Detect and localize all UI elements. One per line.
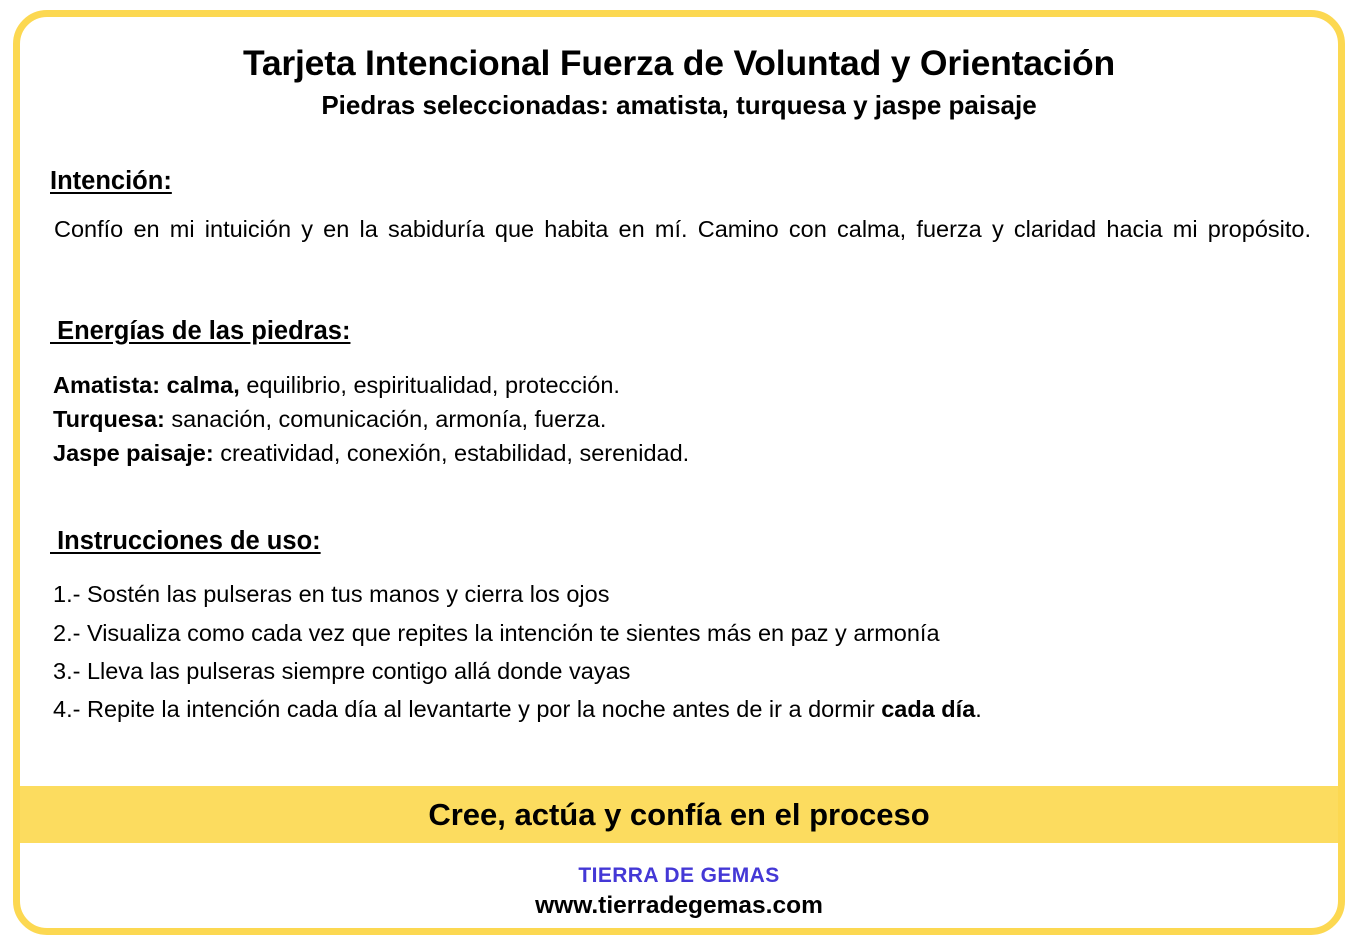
card-body: Intención: Confío en mi intuición y en l… — [20, 167, 1338, 728]
stone-name: Turquesa: — [53, 406, 165, 432]
step-number: 1.- — [53, 581, 80, 607]
step-number: 4.- — [53, 696, 80, 722]
list-item: 4.- Repite la intención cada día al leva… — [53, 690, 1316, 728]
page-title: Tarjeta Intencional Fuerza de Voluntad y… — [20, 43, 1338, 85]
intention-card: Tarjeta Intencional Fuerza de Voluntad y… — [13, 10, 1345, 935]
list-item: Jaspe paisaje: creatividad, conexión, es… — [53, 436, 1316, 470]
card-header: Tarjeta Intencional Fuerza de Voluntad y… — [20, 17, 1338, 121]
list-item: Amatista: calma, equilibrio, espirituali… — [53, 368, 1316, 402]
stone-qualities: creatividad, conexión, estabilidad, sere… — [214, 440, 690, 466]
step-number: 2.- — [53, 620, 80, 646]
list-item: 1.- Sostén las pulseras en tus manos y c… — [53, 575, 1316, 613]
step-text: Visualiza como cada vez que repites la i… — [80, 620, 939, 646]
section-heading-instrucciones: Instrucciones de uso: — [50, 527, 321, 556]
website-url: www.tierradegemas.com — [20, 893, 1338, 920]
card-footer: TIERRA DE GEMAS www.tierradegemas.com — [20, 851, 1338, 920]
step-text: Lleva las pulseras siempre contigo allá … — [80, 658, 630, 684]
list-item: 3.- Lleva las pulseras siempre contigo a… — [53, 652, 1316, 690]
stone-emphasis: calma, — [160, 372, 240, 398]
section-instrucciones-heading-row: Instrucciones de uso: — [50, 527, 1316, 556]
step-number: 3.- — [53, 658, 80, 684]
section-heading-intencion: Intención: — [50, 167, 172, 196]
step-emphasis: cada día — [881, 696, 975, 722]
step-text: Sostén las pulseras en tus manos y cierr… — [80, 581, 609, 607]
step-text: Repite la intención cada día al levantar… — [80, 696, 881, 722]
section-intencion-heading-row: Intención: — [50, 167, 1316, 196]
section-heading-energias: Energías de las piedras: — [50, 317, 350, 346]
section-energias-heading-row: Energías de las piedras: — [50, 317, 1316, 346]
stone-name: Jaspe paisaje: — [53, 440, 214, 466]
list-item: Turquesa: sanación, comunicación, armoní… — [53, 402, 1316, 436]
stone-qualities: equilibrio, espiritualidad, protección. — [240, 372, 620, 398]
affirmation-banner: Cree, actúa y confía en el proceso — [13, 786, 1345, 843]
stone-qualities: sanación, comunicación, armonía, fuerza. — [165, 406, 607, 432]
step-tail: . — [975, 696, 982, 722]
brand-name: TIERRA DE GEMAS — [20, 864, 1338, 887]
intencion-text: Confío en mi intuición y en la sabiduría… — [50, 214, 1316, 277]
instructions-list: 1.- Sostén las pulseras en tus manos y c… — [50, 575, 1316, 727]
affirmation-text: Cree, actúa y confía en el proceso — [428, 799, 929, 830]
list-item: 2.- Visualiza como cada vez que repites … — [53, 614, 1316, 652]
stone-name: Amatista: — [53, 372, 160, 398]
page-subtitle: Piedras seleccionadas: amatista, turques… — [20, 90, 1338, 121]
stones-list: Amatista: calma, equilibrio, espirituali… — [50, 368, 1316, 471]
